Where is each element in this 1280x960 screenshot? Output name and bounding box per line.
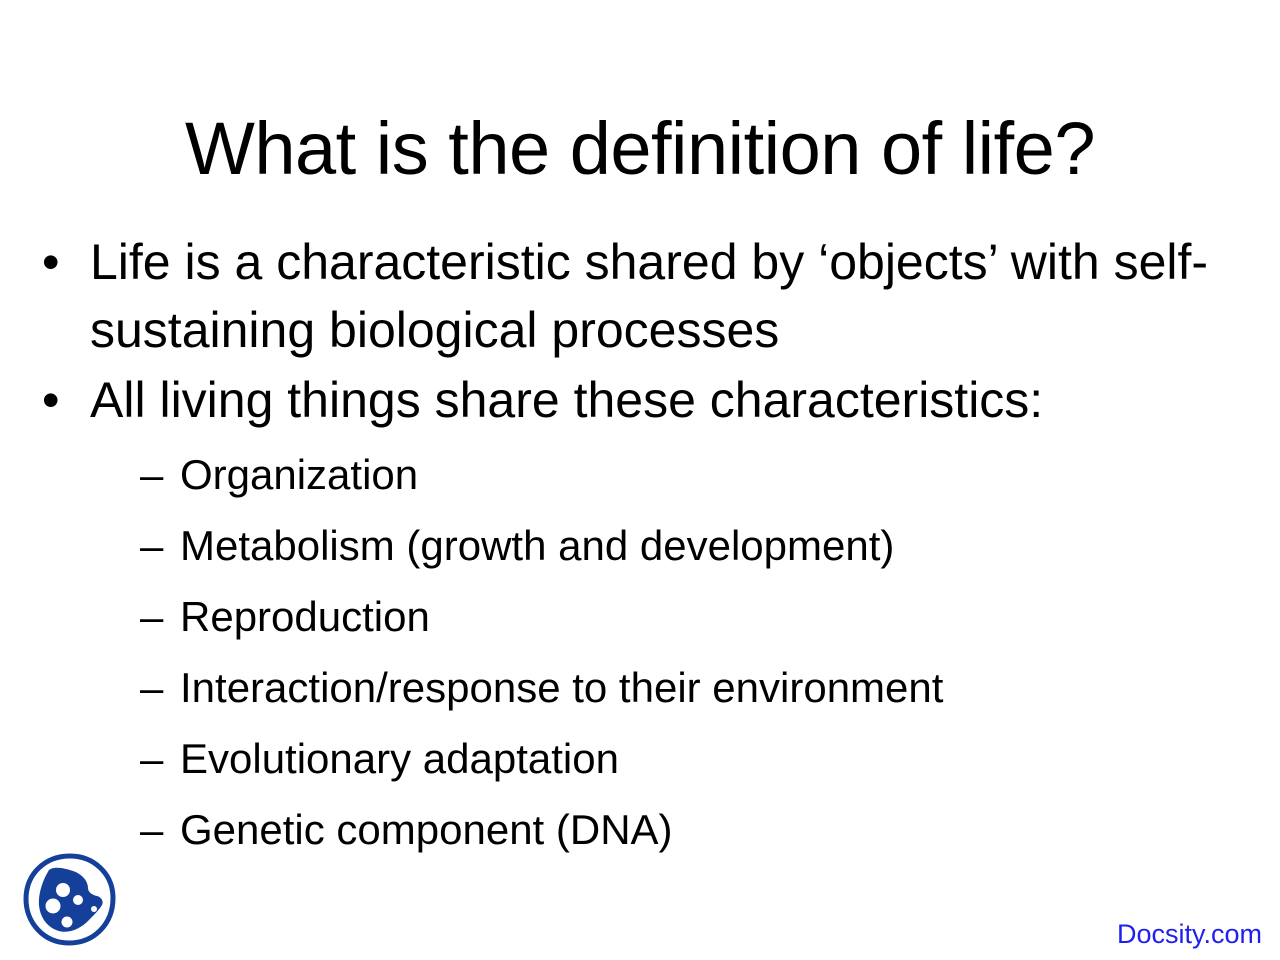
sub-list-item-label: Metabolism (growth and development) — [180, 522, 894, 569]
sub-list-item: – Evolutionary adaptation — [30, 723, 1250, 794]
slide-body: • Life is a characteristic shared by ‘ob… — [30, 228, 1250, 865]
dash-marker-icon: – — [140, 510, 163, 581]
page-title: What is the definition of life? — [0, 112, 1280, 186]
sub-list-item: – Genetic component (DNA) — [30, 794, 1250, 865]
sub-list-item: – Organization — [30, 439, 1250, 510]
list-item: • Life is a characteristic shared by ‘ob… — [30, 228, 1250, 364]
sub-list-item-label: Interaction/response to their environmen… — [180, 664, 943, 711]
slide-canvas: What is the definition of life? • Life i… — [0, 0, 1280, 960]
list-item-label: Life is a characteristic shared by ‘obje… — [90, 234, 1208, 358]
dash-marker-icon: – — [140, 439, 163, 510]
docsity-watermark: Docsity.com — [1117, 921, 1262, 948]
sub-list-item: – Reproduction — [30, 581, 1250, 652]
dash-marker-icon: – — [140, 723, 163, 794]
sub-list-item-label: Organization — [180, 451, 418, 498]
sub-list-item: – Metabolism (growth and development) — [30, 510, 1250, 581]
dash-marker-icon: – — [140, 652, 163, 723]
sub-list-item-label: Genetic component (DNA) — [180, 806, 673, 853]
dash-marker-icon: – — [140, 581, 163, 652]
bullet-marker-icon: • — [42, 228, 60, 296]
sub-list: – Organization – Metabolism (growth and … — [30, 439, 1250, 865]
list-item-label: All living things share these characteri… — [90, 372, 1043, 428]
sub-list-item-label: Evolutionary adaptation — [180, 735, 619, 782]
list-item: • All living things share these characte… — [30, 366, 1250, 434]
docsity-logo-icon — [18, 848, 122, 952]
dash-marker-icon: – — [140, 794, 163, 865]
sub-list-item-label: Reproduction — [180, 593, 430, 640]
bullet-marker-icon: • — [42, 366, 60, 434]
sub-list-item: – Interaction/response to their environm… — [30, 652, 1250, 723]
